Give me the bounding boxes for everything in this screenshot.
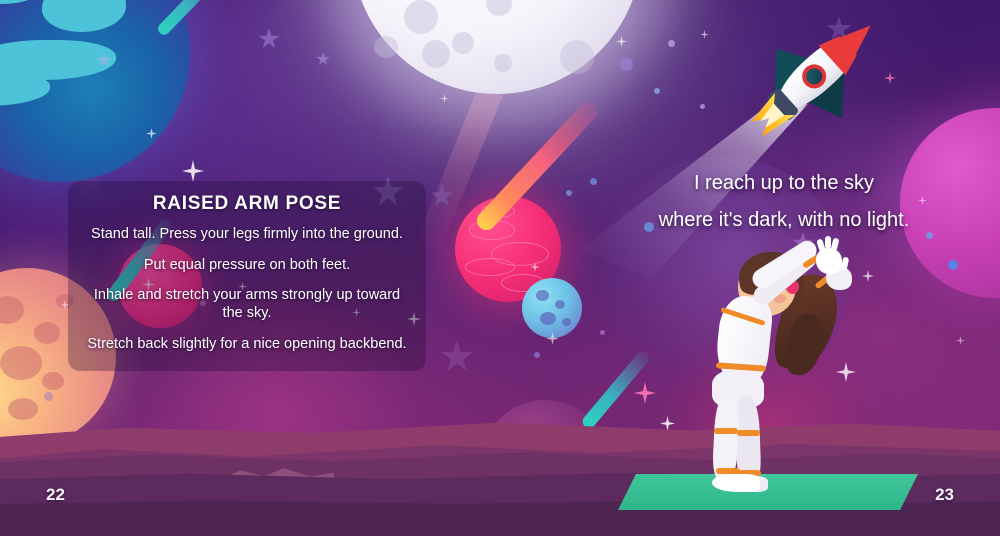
star-dot [948, 260, 958, 270]
pose-instruction-line: Stretch back slightly for a nice opening… [82, 336, 412, 354]
sparkle-icon [700, 30, 709, 39]
knee-trim [714, 428, 738, 434]
sparkle-icon [634, 382, 656, 404]
star-dot [700, 104, 705, 109]
sparkle-icon [440, 94, 449, 103]
star-dot [44, 392, 53, 401]
pose-instruction-line: Inhale and stretch your arms strongly up… [82, 287, 412, 322]
star-dot [566, 190, 572, 196]
star-dot [600, 330, 605, 335]
book-spread: RAISED ARM POSE Stand tall. Press your l… [0, 0, 1000, 536]
pose-instruction-line: Stand tall. Press your legs firmly into … [82, 226, 412, 244]
pose-instruction-panel: RAISED ARM POSE Stand tall. Press your l… [68, 181, 426, 371]
shoe-front [712, 474, 760, 492]
blue-moon-icon [522, 278, 582, 338]
moon-icon [352, 0, 642, 94]
hand-front [816, 248, 842, 274]
girl-astronaut-figure [700, 252, 870, 504]
star-dot [668, 40, 675, 47]
page-number-right: 23 [935, 485, 954, 505]
knee-trim [737, 430, 760, 436]
poem-text: I reach up to the sky where it's dark, w… [586, 172, 982, 232]
star-dot [654, 88, 660, 94]
star-icon [316, 52, 330, 66]
pose-instruction-line: Put equal pressure on both feet. [82, 257, 412, 275]
star-icon [440, 340, 474, 374]
star-dot [926, 232, 933, 239]
sparkle-icon [616, 36, 627, 47]
poem-line-1: I reach up to the sky [586, 172, 982, 195]
sparkle-icon [956, 336, 965, 345]
star-dot [534, 352, 540, 358]
sparkle-icon [182, 160, 204, 182]
poem-line-2: where it's dark, with no light. [586, 209, 982, 232]
star-icon [258, 28, 280, 50]
star-dot [620, 58, 633, 71]
pose-title: RAISED ARM POSE [82, 193, 412, 215]
page-number-left: 22 [46, 485, 65, 505]
